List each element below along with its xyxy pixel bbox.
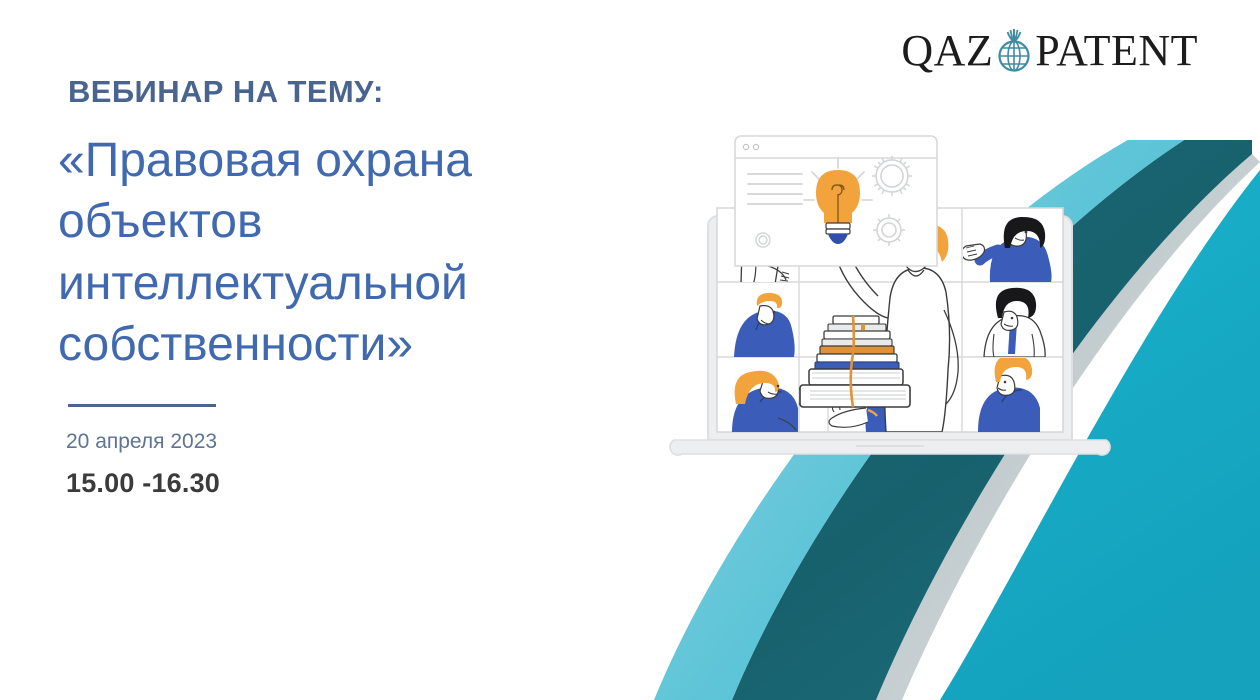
globe-emblem-icon [991,25,1037,77]
qazpatent-logo: QAZ PATENT [901,24,1198,78]
event-date: 20 апреля 2023 [66,430,217,454]
webinar-poster: QAZ PATENT ВЕБИНАР НА ТЕМУ: «Правовая [0,0,1260,700]
logo-text-qaz: QAZ [901,29,993,73]
logo-text-patent: PATENT [1035,29,1198,73]
event-time: 15.00 -16.30 [66,468,220,499]
title-line-3: интеллектуальной [58,253,678,314]
title-line-2: объектов [58,191,678,252]
page-kicker: ВЕБИНАР НА ТЕМУ: [68,74,384,110]
title-line-4: собственности» [58,314,678,375]
title-line-1: «Правовая охрана [58,130,678,191]
idea-browser-window [735,136,937,266]
page-title: «Правовая охрана объектов интеллектуальн… [58,130,678,376]
title-divider [68,404,216,407]
webinar-illustration [660,120,1120,500]
laptop-base [670,440,1110,455]
